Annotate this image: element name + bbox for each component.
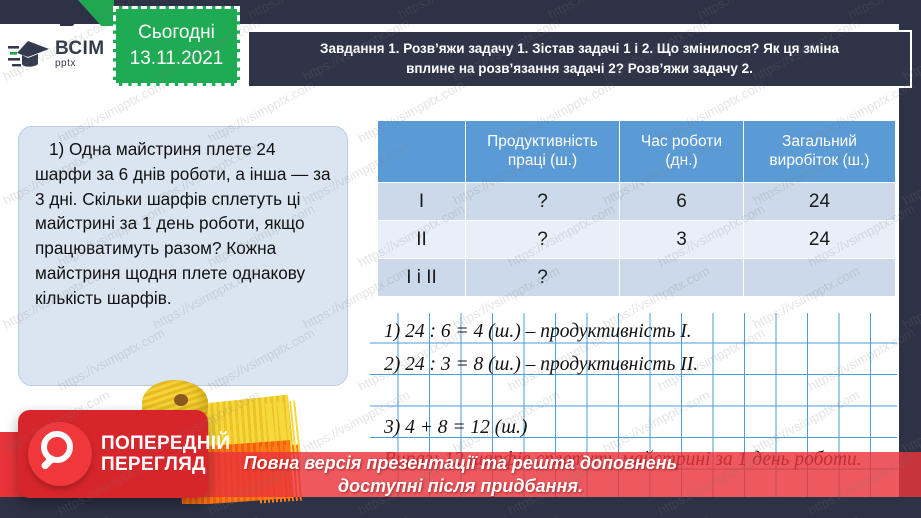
row-output (744, 259, 896, 297)
date-badge-label: Сьогодні (138, 20, 215, 46)
table-row: I i II ? (378, 259, 896, 297)
graduation-cap-icon (8, 37, 52, 71)
table-col-blank (378, 121, 466, 183)
table-header-row: Продуктивність праці (ш.) Час роботи (дн… (378, 121, 896, 183)
notice-line2: доступні після придбання. (338, 476, 583, 496)
notice-line1: Повна версія презентації та решта доповн… (244, 453, 678, 473)
bottom-dark-strip (0, 497, 921, 518)
logo-subtitle: pptx (55, 59, 104, 69)
task-header-line2: вплине на розв’язання задачі 2? Розв’яжи… (406, 61, 753, 76)
solution-line-2: 2) 24 : 3 = 8 (ш.) – продуктивність II. (384, 354, 698, 376)
row-time: 6 (620, 183, 744, 221)
table-col-productivity: Продуктивність праці (ш.) (466, 121, 620, 183)
preview-badge-line1: ПОПЕРЕДНІЙ (101, 433, 230, 454)
logo-title: ВСІМ (55, 39, 104, 58)
table-col-output: Загальний виробіток (ш.) (744, 121, 896, 183)
solution-line-1: 1) 24 : 6 = 4 (ш.) – продуктивність I. (384, 321, 692, 343)
work-rate-table: Продуктивність праці (ш.) Час роботи (дн… (377, 120, 896, 297)
row-time (620, 259, 744, 297)
slide-canvas: ВСІМ pptx Сьогодні 13.11.2021 Завдання 1… (0, 0, 921, 518)
row-output: 24 (744, 221, 896, 259)
yarn-ball-core (174, 394, 188, 406)
solution-line-3: 3) 4 + 8 = 12 (ш.) (384, 417, 527, 439)
task-header-line1: Завдання 1. Розв’яжи задачу 1. Зістав за… (320, 41, 839, 56)
brand-logo: ВСІМ pptx (0, 26, 118, 82)
row-productivity-unknown: ? (466, 259, 620, 297)
row-label: I i II (378, 259, 466, 297)
task-header-bar: Завдання 1. Розв’яжи задачу 1. Зістав за… (247, 30, 912, 88)
table-row: I ? 6 24 (378, 183, 896, 221)
row-productivity: ? (466, 221, 620, 259)
table-row: II ? 3 24 (378, 221, 896, 259)
row-label: I (378, 183, 466, 221)
row-productivity: ? (466, 183, 620, 221)
table-col-time: Час роботи (дн.) (620, 121, 744, 183)
problem-statement-text: 1) Одна майстриня плете 24 шарфи за 6 дн… (35, 137, 333, 310)
today-date-badge: Сьогодні 13.11.2021 (113, 6, 240, 86)
row-time: 3 (620, 221, 744, 259)
row-output: 24 (744, 183, 896, 221)
problem-statement-box: 1) Одна майстриня плете 24 шарфи за 6 дн… (18, 126, 348, 386)
magnifier-icon (28, 422, 92, 486)
preview-watermark-badge: ПОПЕРЕДНІЙ ПЕРЕГЛЯД (18, 410, 208, 498)
preview-badge-line2: ПЕРЕГЛЯД (101, 454, 230, 475)
date-badge-date: 13.11.2021 (130, 46, 224, 72)
row-label: II (378, 221, 466, 259)
